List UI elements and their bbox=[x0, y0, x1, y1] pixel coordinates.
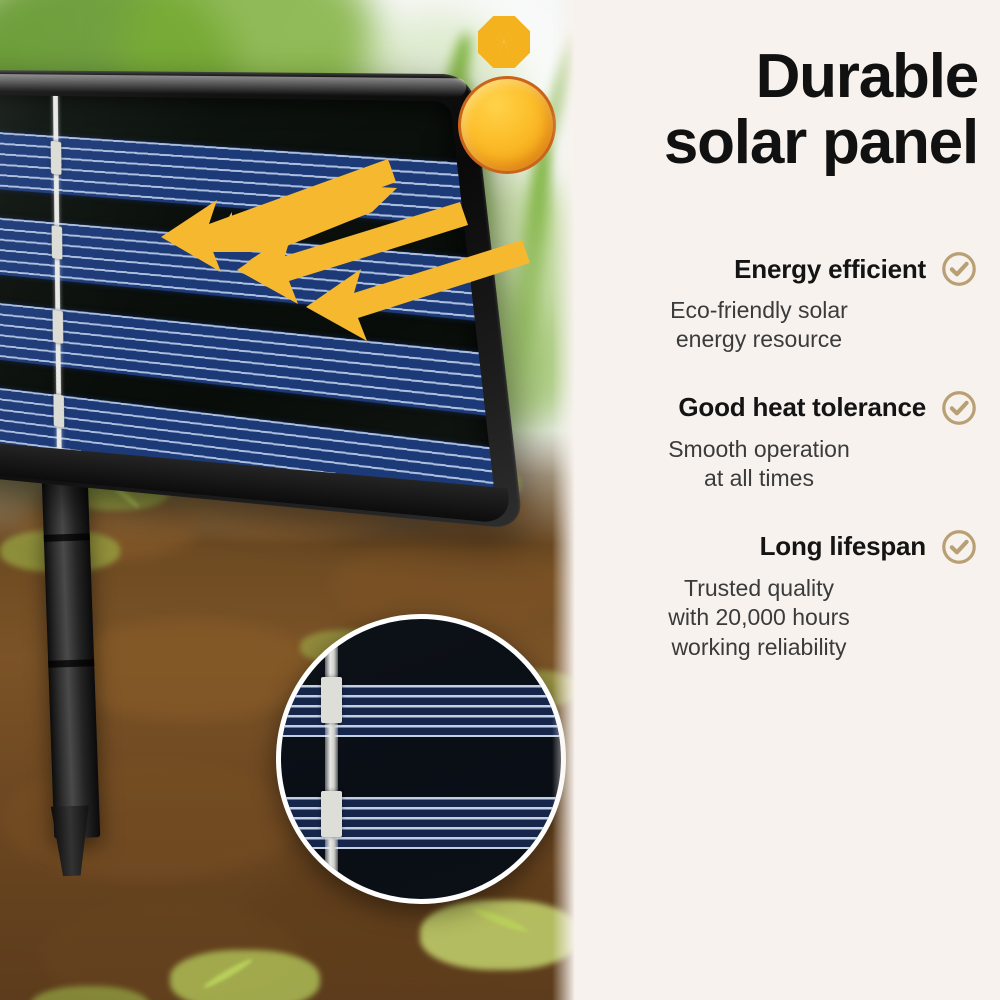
feature-subtext-line: with 20,000 hours bbox=[588, 603, 930, 632]
feature-list: Energy efficient Eco-friendly solar ener… bbox=[588, 250, 978, 696]
feature-title: Good heat tolerance bbox=[678, 392, 926, 423]
feature-title: Energy efficient bbox=[734, 254, 926, 285]
feature-subtext: Eco-friendly solar energy resource bbox=[588, 296, 978, 355]
feature-subtext-line: Trusted quality bbox=[588, 574, 930, 603]
solar-cell-closeup bbox=[276, 614, 566, 904]
feature-subtext: Smooth operation at all times bbox=[588, 435, 978, 494]
feature-subtext: Trusted quality with 20,000 hours workin… bbox=[588, 574, 978, 662]
solar-cell-surface bbox=[0, 94, 495, 498]
sun-icon bbox=[424, 42, 578, 202]
feature-heading-row: Good heat tolerance bbox=[588, 389, 978, 427]
feature-subtext-line: energy resource bbox=[588, 325, 930, 354]
feature-heading-row: Long lifespan bbox=[588, 528, 978, 566]
product-feature-image: Durable solar panel Energy efficient Eco… bbox=[0, 0, 1000, 1000]
feature-subtext-line: Smooth operation bbox=[588, 435, 930, 464]
check-circle-icon bbox=[940, 389, 978, 427]
title-line-1: Durable bbox=[598, 44, 978, 110]
page-title: Durable solar panel bbox=[598, 44, 978, 175]
feature-subtext-line: at all times bbox=[588, 464, 930, 493]
feature-item-energy-efficient: Energy efficient Eco-friendly solar ener… bbox=[588, 250, 978, 355]
feature-subtext-line: working reliability bbox=[588, 633, 930, 662]
feature-item-good-heat-tolerance: Good heat tolerance Smooth operation at … bbox=[588, 389, 978, 494]
product-photo bbox=[0, 0, 578, 1000]
feature-title: Long lifespan bbox=[760, 531, 926, 562]
feature-item-long-lifespan: Long lifespan Trusted quality with 20,00… bbox=[588, 528, 978, 662]
check-circle-icon bbox=[940, 528, 978, 566]
info-panel: Durable solar panel Energy efficient Eco… bbox=[578, 0, 1000, 1000]
busbar-closeup bbox=[325, 614, 338, 904]
check-circle-icon bbox=[940, 250, 978, 288]
feature-subtext-line: Eco-friendly solar bbox=[588, 296, 930, 325]
feature-heading-row: Energy efficient bbox=[588, 250, 978, 288]
title-line-2: solar panel bbox=[598, 110, 978, 176]
